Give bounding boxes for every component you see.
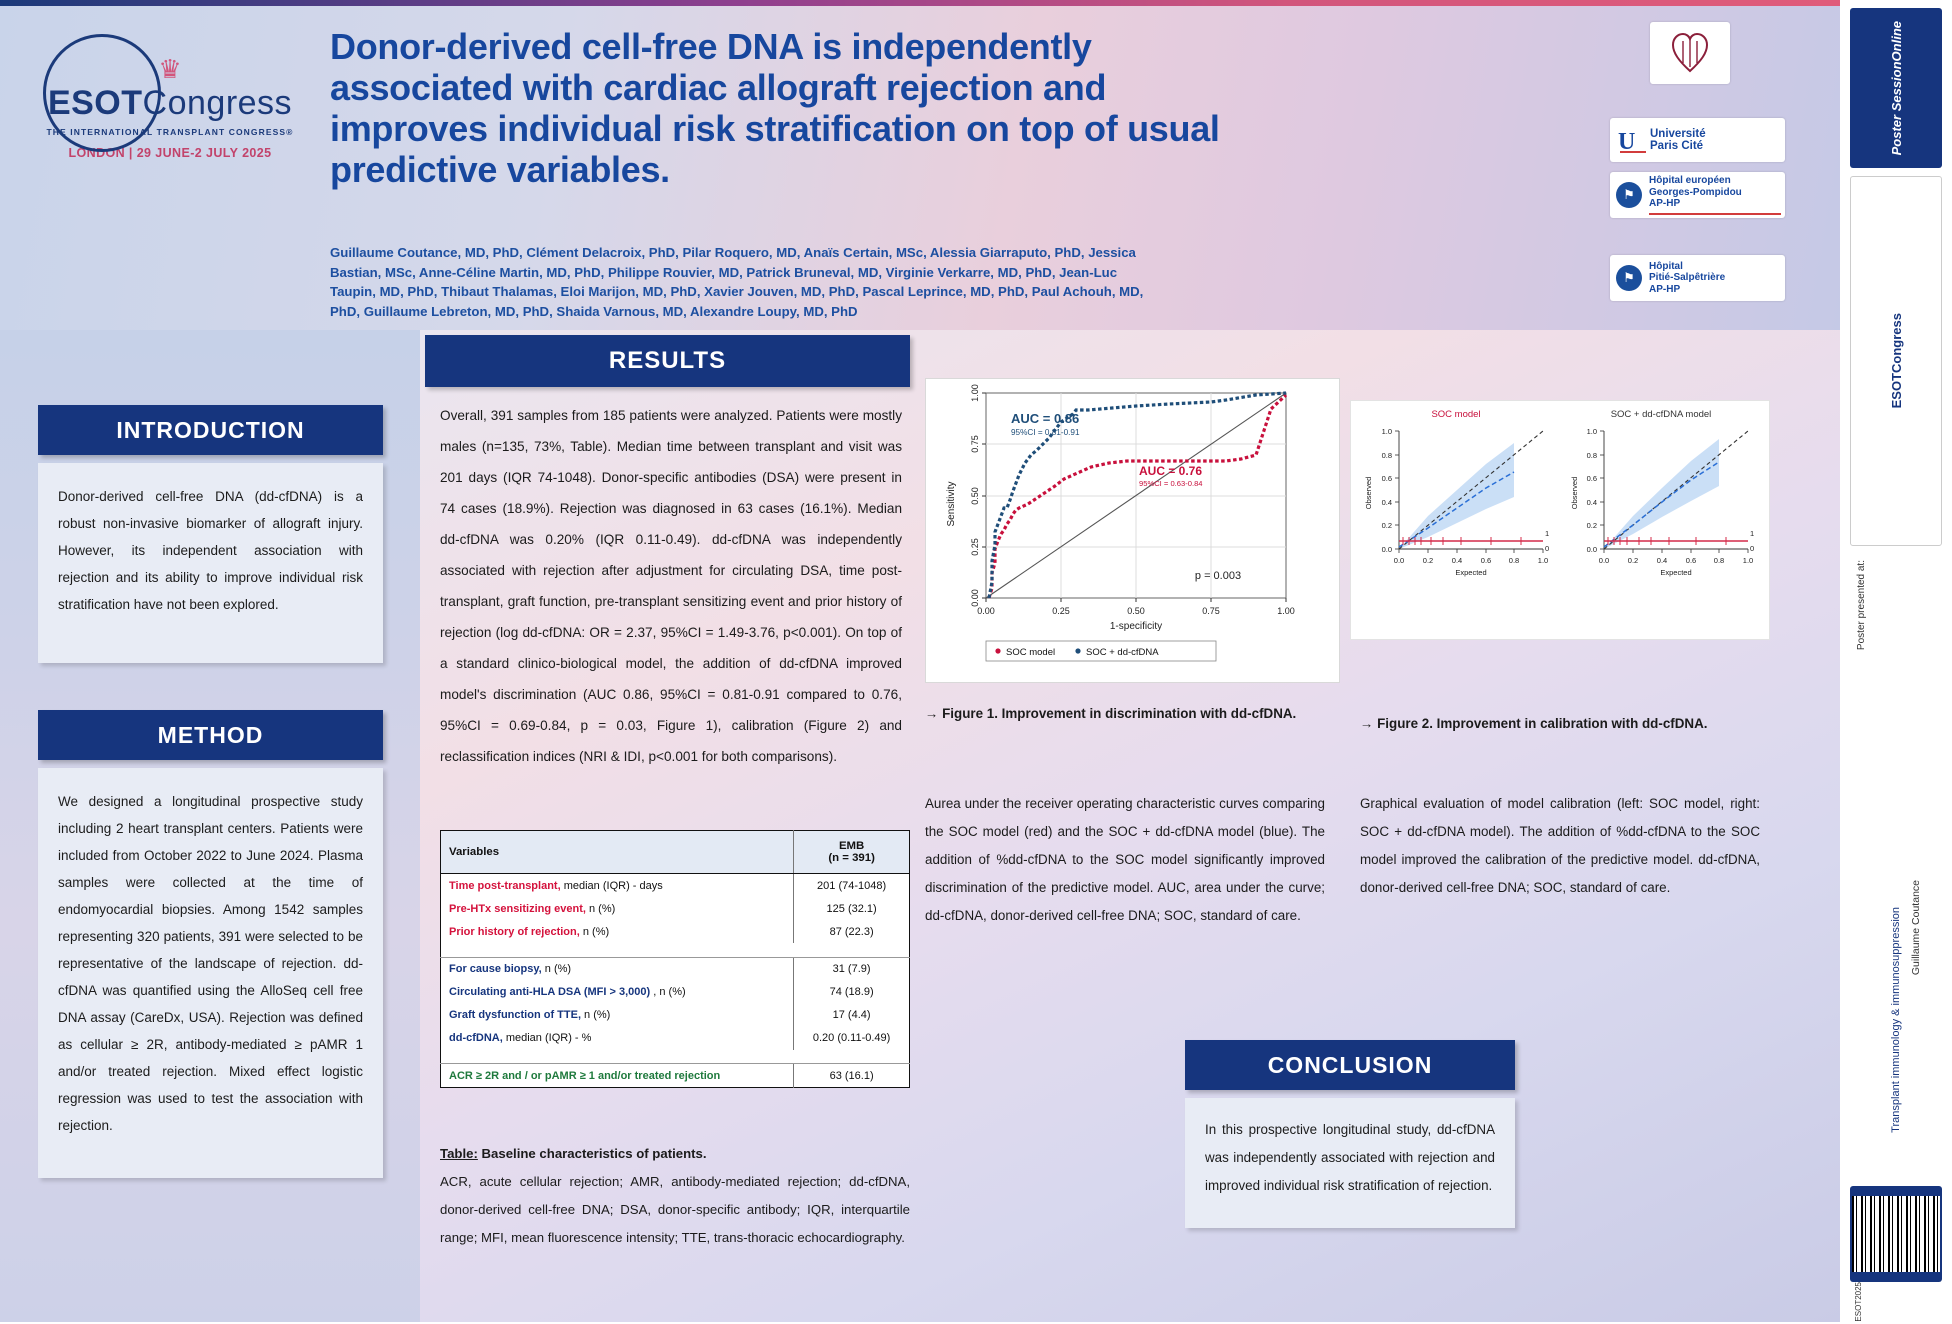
logo-congress: Congress bbox=[143, 84, 293, 122]
barcode-bars bbox=[1852, 1196, 1940, 1272]
svg-text:0.2: 0.2 bbox=[1587, 521, 1597, 530]
svg-text:0.6: 0.6 bbox=[1686, 556, 1696, 565]
hegp-underline bbox=[1649, 213, 1781, 215]
svg-text:0.0: 0.0 bbox=[1394, 556, 1404, 565]
svg-text:Expected: Expected bbox=[1455, 568, 1486, 577]
table-caption-title-rest: Baseline characteristics of patients. bbox=[478, 1146, 707, 1161]
figure1-description: Aurea under the receiver operating chara… bbox=[925, 790, 1325, 930]
introduction-heading: INTRODUCTION bbox=[38, 405, 383, 455]
table-element: Variables EMB (n = 391) Time post-transp… bbox=[440, 830, 910, 1088]
table-row: ACR ≥ 2R and / or pAMR ≥ 1 and/or treate… bbox=[441, 1064, 910, 1088]
table-row: Graft dysfunction of TTE, n (%)17 (4.4) bbox=[441, 1004, 910, 1027]
svg-text:0.25: 0.25 bbox=[970, 538, 980, 556]
svg-text:1.00: 1.00 bbox=[970, 384, 980, 402]
svg-text:1: 1 bbox=[1750, 529, 1754, 538]
poster-presented-at: Poster presented at: bbox=[1856, 560, 1889, 655]
svg-text:0.75: 0.75 bbox=[970, 435, 980, 453]
table-caption-title: Table: bbox=[440, 1146, 478, 1161]
table-header-row: Variables EMB (n = 391) bbox=[441, 831, 910, 874]
top-accent-line bbox=[0, 0, 1840, 6]
svg-text:0.50: 0.50 bbox=[1127, 606, 1145, 616]
svg-text:0.2: 0.2 bbox=[1628, 556, 1638, 565]
svg-text:0.4: 0.4 bbox=[1382, 498, 1392, 507]
hegp-line3: AP-HP bbox=[1649, 198, 1781, 210]
table-row: dd-cfDNA, median (IQR) - %0.20 (0.11-0.4… bbox=[441, 1027, 910, 1050]
svg-text:0.6: 0.6 bbox=[1481, 556, 1491, 565]
right-rail: Poster SessionOnline ESOTCongress Poster… bbox=[1840, 0, 1952, 1322]
svg-text:SOC model: SOC model bbox=[1006, 647, 1055, 658]
poster-session-online-label: Poster SessionOnline bbox=[1889, 21, 1904, 155]
svg-text:0.25: 0.25 bbox=[1052, 606, 1070, 616]
svg-text:0.4: 0.4 bbox=[1587, 498, 1597, 507]
svg-text:1.00: 1.00 bbox=[1277, 606, 1295, 616]
conclusion-heading: CONCLUSION bbox=[1185, 1040, 1515, 1090]
table-caption: Table: Baseline characteristics of patie… bbox=[440, 1140, 910, 1252]
svg-text:0.4: 0.4 bbox=[1657, 556, 1667, 565]
introduction-body: Donor-derived cell-free DNA (dd-cfDNA) i… bbox=[38, 463, 383, 663]
svg-text:0.8: 0.8 bbox=[1382, 451, 1392, 460]
esot-congress-rail: ESOTCongress bbox=[1850, 176, 1942, 546]
svg-text:SOC + dd-cfDNA model: SOC + dd-cfDNA model bbox=[1611, 409, 1712, 420]
upc-line2: Paris Cité bbox=[1650, 140, 1706, 153]
table-cell-value: 31 (7.9) bbox=[794, 957, 910, 981]
table-cell-variable: Prior history of rejection, n (%) bbox=[441, 920, 794, 943]
figure2-caption-bold: Figure 2. Improvement in calibration wit… bbox=[1377, 716, 1707, 731]
conclusion-body: In this prospective longitudinal study, … bbox=[1185, 1098, 1515, 1228]
th-variables: Variables bbox=[441, 831, 794, 874]
svg-text:0.0: 0.0 bbox=[1382, 545, 1392, 554]
svg-text:1-specificity: 1-specificity bbox=[1110, 621, 1162, 632]
svg-text:0.0: 0.0 bbox=[1599, 556, 1609, 565]
table-cell-value: 63 (16.1) bbox=[794, 1064, 910, 1088]
table-cell-variable: dd-cfDNA, median (IQR) - % bbox=[441, 1027, 794, 1050]
esot-congress-rail-label: ESOTCongress bbox=[1889, 313, 1904, 408]
figure2-caption: → Figure 2. Improvement in calibration w… bbox=[1360, 710, 1760, 738]
svg-text:Observed: Observed bbox=[1570, 477, 1579, 510]
upc-text: Université Paris Cité bbox=[1650, 128, 1706, 153]
table-cell-variable: ACR ≥ 2R and / or pAMR ≥ 1 and/or treate… bbox=[441, 1064, 794, 1088]
hegp-logo: ⚑ Hôpital européen Georges-Pompidou AP-H… bbox=[1610, 172, 1785, 218]
roc-svg: 0.00 0.25 0.50 0.75 1.00 Sensitivity 0.0… bbox=[926, 379, 1339, 682]
table-cell-value: 201 (74-1048) bbox=[794, 874, 910, 898]
table-cell-variable: Circulating anti-HLA DSA (MFI > 3,000) ,… bbox=[441, 981, 794, 1004]
svg-text:0.50: 0.50 bbox=[970, 487, 980, 505]
hegp-text: Hôpital européen Georges-Pompidou AP-HP bbox=[1649, 175, 1781, 215]
svg-text:0.8: 0.8 bbox=[1509, 556, 1519, 565]
figure1-caption: → Figure 1. Improvement in discriminatio… bbox=[925, 700, 1325, 728]
hegp-line2: Georges-Pompidou bbox=[1649, 187, 1781, 199]
method-body: We designed a longitudinal prospective s… bbox=[38, 768, 383, 1178]
table-spacer-row bbox=[441, 1050, 910, 1064]
baseline-characteristics-table: Variables EMB (n = 391) Time post-transp… bbox=[440, 830, 910, 1088]
svg-text:SOC model: SOC model bbox=[1431, 409, 1480, 420]
method-heading: METHOD bbox=[38, 710, 383, 760]
aphp-mark-icon: ⚑ bbox=[1616, 182, 1642, 208]
table-row: Circulating anti-HLA DSA (MFI > 3,000) ,… bbox=[441, 981, 910, 1004]
svg-text:p = 0.003: p = 0.003 bbox=[1195, 570, 1241, 582]
upc-line1: Université bbox=[1650, 128, 1706, 141]
table-row: Time post-transplant, median (IQR) - day… bbox=[441, 874, 910, 898]
poster-session-online-badge[interactable]: Poster SessionOnline bbox=[1850, 8, 1942, 168]
table-cell-variable: Pre-HTx sensitizing event, n (%) bbox=[441, 897, 794, 920]
universite-paris-cite-logo: U Université Paris Cité bbox=[1610, 118, 1785, 162]
svg-text:0.2: 0.2 bbox=[1382, 521, 1392, 530]
table-cell-value: 0.20 (0.11-0.49) bbox=[794, 1027, 910, 1050]
svg-text:AUC = 0.86: AUC = 0.86 bbox=[1011, 411, 1079, 426]
svg-text:1.0: 1.0 bbox=[1382, 427, 1392, 436]
crown-icon: ♛ bbox=[158, 56, 181, 82]
figure2-description: Graphical evaluation of model calibratio… bbox=[1360, 790, 1760, 902]
logo-circle-icon bbox=[43, 34, 161, 152]
results-heading: RESULTS bbox=[425, 335, 910, 387]
figure2-arrow: → bbox=[1360, 716, 1373, 731]
table-row: Prior history of rejection, n (%)87 (22.… bbox=[441, 920, 910, 943]
table-cell-value: 17 (4.4) bbox=[794, 1004, 910, 1027]
svg-text:1.0: 1.0 bbox=[1538, 556, 1548, 565]
svg-text:Observed: Observed bbox=[1364, 477, 1373, 510]
hegp-line1: Hôpital européen bbox=[1649, 175, 1781, 187]
heart-icon bbox=[1669, 31, 1711, 75]
svg-text:Sensitivity: Sensitivity bbox=[946, 481, 957, 526]
svg-text:SOC + dd-cfDNA: SOC + dd-cfDNA bbox=[1086, 647, 1159, 658]
table-cell-variable: Graft dysfunction of TTE, n (%) bbox=[441, 1004, 794, 1027]
svg-text:0.75: 0.75 bbox=[1202, 606, 1220, 616]
aphp-mark-icon-2: ⚑ bbox=[1616, 265, 1642, 291]
pitie-salpetriere-logo: ⚑ Hôpital Pitié-Salpêtrière AP-HP bbox=[1610, 255, 1785, 301]
table-body: Time post-transplant, median (IQR) - day… bbox=[441, 874, 910, 1088]
presenter-name: Guillaume Coutance bbox=[1910, 880, 1934, 980]
svg-text:95%CI = 0.81-0.91: 95%CI = 0.81-0.91 bbox=[1011, 428, 1080, 437]
table-cell-value: 74 (18.9) bbox=[794, 981, 910, 1004]
esot-congress-logo: ♛ ESOTCongress THE INTERNATIONAL TRANSPL… bbox=[35, 28, 305, 188]
th-emb-line1: EMB bbox=[802, 840, 901, 852]
svg-text:Expected: Expected bbox=[1660, 568, 1691, 577]
th-emb: EMB (n = 391) bbox=[794, 831, 910, 874]
svg-text:0: 0 bbox=[1750, 544, 1754, 553]
svg-text:1: 1 bbox=[1545, 529, 1549, 538]
psl-line2: Pitié-Salpêtrière bbox=[1649, 272, 1725, 284]
table-row: For cause biopsy, n (%)31 (7.9) bbox=[441, 957, 910, 981]
poster-title: Donor-derived cell-free DNA is independe… bbox=[330, 26, 1220, 190]
svg-text:0.8: 0.8 bbox=[1714, 556, 1724, 565]
table-spacer-row bbox=[441, 943, 910, 957]
svg-text:0.0: 0.0 bbox=[1587, 545, 1597, 554]
svg-text:1.0: 1.0 bbox=[1587, 427, 1597, 436]
svg-text:0.00: 0.00 bbox=[977, 606, 995, 616]
event-code: ESOT2025 bbox=[1854, 1282, 1863, 1324]
figure1-caption-bold: Figure 1. Improvement in discrimination … bbox=[942, 706, 1296, 721]
figure1-roc-chart: 0.00 0.25 0.50 0.75 1.00 Sensitivity 0.0… bbox=[925, 378, 1340, 683]
table-cell-variable: Time post-transplant, median (IQR) - day… bbox=[441, 874, 794, 898]
svg-text:AUC = 0.76: AUC = 0.76 bbox=[1139, 464, 1202, 478]
svg-text:0.6: 0.6 bbox=[1382, 474, 1392, 483]
figure2-calibration-charts: SOC model 0.0 0.2 0.4 0.6 0.8 1.0 Observ… bbox=[1350, 400, 1770, 640]
svg-text:0.6: 0.6 bbox=[1587, 474, 1597, 483]
u-monogram-icon: U bbox=[1616, 125, 1650, 155]
svg-text:0: 0 bbox=[1545, 544, 1549, 553]
poster-canvas: ♛ ESOTCongress THE INTERNATIONAL TRANSPL… bbox=[0, 0, 1840, 1322]
barcode bbox=[1852, 1196, 1940, 1272]
svg-text:1.0: 1.0 bbox=[1743, 556, 1753, 565]
results-body: Overall, 391 samples from 185 patients w… bbox=[440, 400, 902, 772]
svg-text:95%CI = 0.63-0.84: 95%CI = 0.63-0.84 bbox=[1139, 479, 1203, 488]
topic-label: Transplant immunology & immunosuppressio… bbox=[1890, 907, 1902, 1133]
table-cell-variable: For cause biopsy, n (%) bbox=[441, 957, 794, 981]
table-caption-body: ACR, acute cellular rejection; AMR, anti… bbox=[440, 1174, 910, 1245]
svg-text:0.4: 0.4 bbox=[1452, 556, 1462, 565]
table-cell-value: 87 (22.3) bbox=[794, 920, 910, 943]
svg-text:0.00: 0.00 bbox=[970, 589, 980, 607]
table-row: Pre-HTx sensitizing event, n (%)125 (32.… bbox=[441, 897, 910, 920]
th-emb-line2: (n = 391) bbox=[802, 852, 901, 864]
figure1-arrow: → bbox=[925, 706, 938, 721]
psl-line1: Hôpital bbox=[1649, 261, 1725, 273]
heart-logo bbox=[1650, 22, 1730, 84]
svg-text:0.8: 0.8 bbox=[1587, 451, 1597, 460]
psl-text: Hôpital Pitié-Salpêtrière AP-HP bbox=[1649, 261, 1725, 296]
svg-text:0.2: 0.2 bbox=[1423, 556, 1433, 565]
table-cell-value: 125 (32.1) bbox=[794, 897, 910, 920]
psl-line3: AP-HP bbox=[1649, 284, 1725, 296]
author-list: Guillaume Coutance, MD, PhD, Clément Del… bbox=[330, 243, 1160, 321]
calibration-svg: SOC model 0.0 0.2 0.4 0.6 0.8 1.0 Observ… bbox=[1351, 401, 1769, 639]
